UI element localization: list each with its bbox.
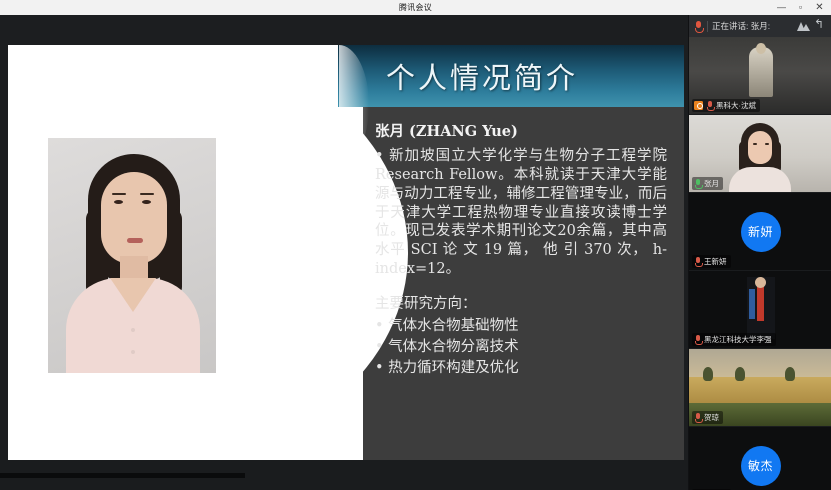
participant-tile[interactable]: 黑龙江科技大学李强: [689, 271, 831, 349]
presentation-slide: 个人情况简介 张月 (ZHANG Yue: [8, 45, 684, 460]
slide-body: 张月 (ZHANG Yue) • 新加坡国立大学化学与生物分子工程学院Resea…: [375, 120, 667, 379]
tile-video-head: [756, 43, 766, 54]
window-controls: — ▫ ✕: [772, 0, 829, 15]
slide-person-name: 张月 (ZHANG Yue): [375, 120, 667, 141]
tile-body: [729, 167, 791, 193]
portrait-photo: [48, 138, 216, 373]
collapse-panel-icon[interactable]: [814, 21, 826, 32]
portrait-brow-left: [112, 193, 126, 195]
tencent-meeting-window: 腾讯会议 — ▫ ✕ 个人情况简介: [0, 0, 831, 490]
tile-eye-right: [765, 143, 769, 145]
tile-landscape-tree-1: [703, 367, 713, 381]
portrait-eye-right: [142, 200, 151, 204]
participant-name: 张月: [704, 178, 719, 189]
avatar: 敏杰: [741, 446, 781, 486]
portrait-button-1: [131, 328, 135, 332]
minimize-icon[interactable]: —: [772, 0, 791, 15]
participant-tile[interactable]: 贺琼: [689, 349, 831, 427]
speaking-header: 正在讲话: 张月:: [689, 15, 831, 37]
participant-name: 黑龙江科技大学李强: [704, 334, 772, 345]
portrait-brow-right: [140, 193, 154, 195]
close-icon[interactable]: ✕: [810, 0, 829, 15]
window-titlebar: 腾讯会议 — ▫ ✕: [0, 0, 831, 15]
window-title: 腾讯会议: [399, 2, 432, 13]
tile-face: [748, 131, 772, 164]
participant-name-badge: 王新妍: [692, 255, 731, 268]
tile-room-figure-left: [749, 289, 755, 319]
participant-tile[interactable]: 敏杰 陈敏杰: [689, 427, 831, 490]
slide-title: 个人情况简介: [386, 55, 578, 97]
slide-bullet-2: • 气体水合物分离技术: [375, 337, 667, 358]
participant-tile[interactable]: 新妍 王新妍: [689, 193, 831, 271]
participant-name: 王新妍: [704, 256, 727, 267]
participant-tile[interactable]: 张月: [689, 115, 831, 193]
tile-room-head: [755, 277, 766, 288]
participant-name-badge: 贺琼: [692, 411, 723, 424]
host-badge-icon: [694, 101, 703, 110]
gallery-view-icon[interactable]: [797, 21, 809, 31]
maximize-icon[interactable]: ▫: [791, 0, 810, 15]
slide-research-heading: 主要研究方向：: [375, 292, 667, 313]
mic-muted-icon: [706, 101, 713, 110]
mic-muted-icon: [694, 335, 701, 344]
portrait-button-2: [131, 350, 135, 354]
mic-muted-icon: [694, 257, 701, 266]
mic-muted-icon: [694, 413, 701, 422]
participant-name-badge: 黑科大·沈斌: [692, 99, 760, 112]
slide-bullet-1: • 气体水合物基础物性: [375, 316, 667, 337]
sidebar-header-actions: [797, 21, 826, 32]
portrait-mouth: [127, 238, 143, 243]
tile-landscape-tree-3: [785, 367, 795, 381]
slide-bullet-3: • 热力循环构建及优化: [375, 358, 667, 379]
portrait-face: [101, 172, 167, 264]
tile-eye-left: [753, 143, 757, 145]
stage-bottom-strip: [0, 473, 245, 478]
slide-bio-paragraph: • 新加坡国立大学化学与生物分子工程学院Research Fellow。本科就读…: [375, 147, 667, 279]
participant-sidebar: 正在讲话: 张月: 黑科大·沈斌: [688, 15, 831, 490]
participant-name-badge: 黑龙江科技大学李强: [692, 333, 776, 346]
tile-video-figure: [749, 47, 773, 97]
participant-name: 贺琼: [704, 412, 719, 423]
shared-screen-stage: 个人情况简介 张月 (ZHANG Yue: [0, 15, 688, 490]
portrait-eye-left: [114, 200, 123, 204]
participant-tiles: 黑科大·沈斌 张月 新妍: [689, 37, 831, 490]
header-divider: [707, 21, 708, 32]
tile-landscape-tree-2: [735, 367, 745, 381]
mic-active-icon: [694, 179, 701, 188]
participant-tile[interactable]: 黑科大·沈斌: [689, 37, 831, 115]
participant-name: 黑科大·沈斌: [716, 100, 756, 111]
avatar: 新妍: [741, 212, 781, 252]
microphone-icon: [694, 21, 703, 32]
speaking-label: 正在讲话: 张月:: [712, 20, 793, 32]
participant-name-badge: 张月: [692, 177, 723, 190]
tile-room-figure-right: [757, 285, 764, 321]
